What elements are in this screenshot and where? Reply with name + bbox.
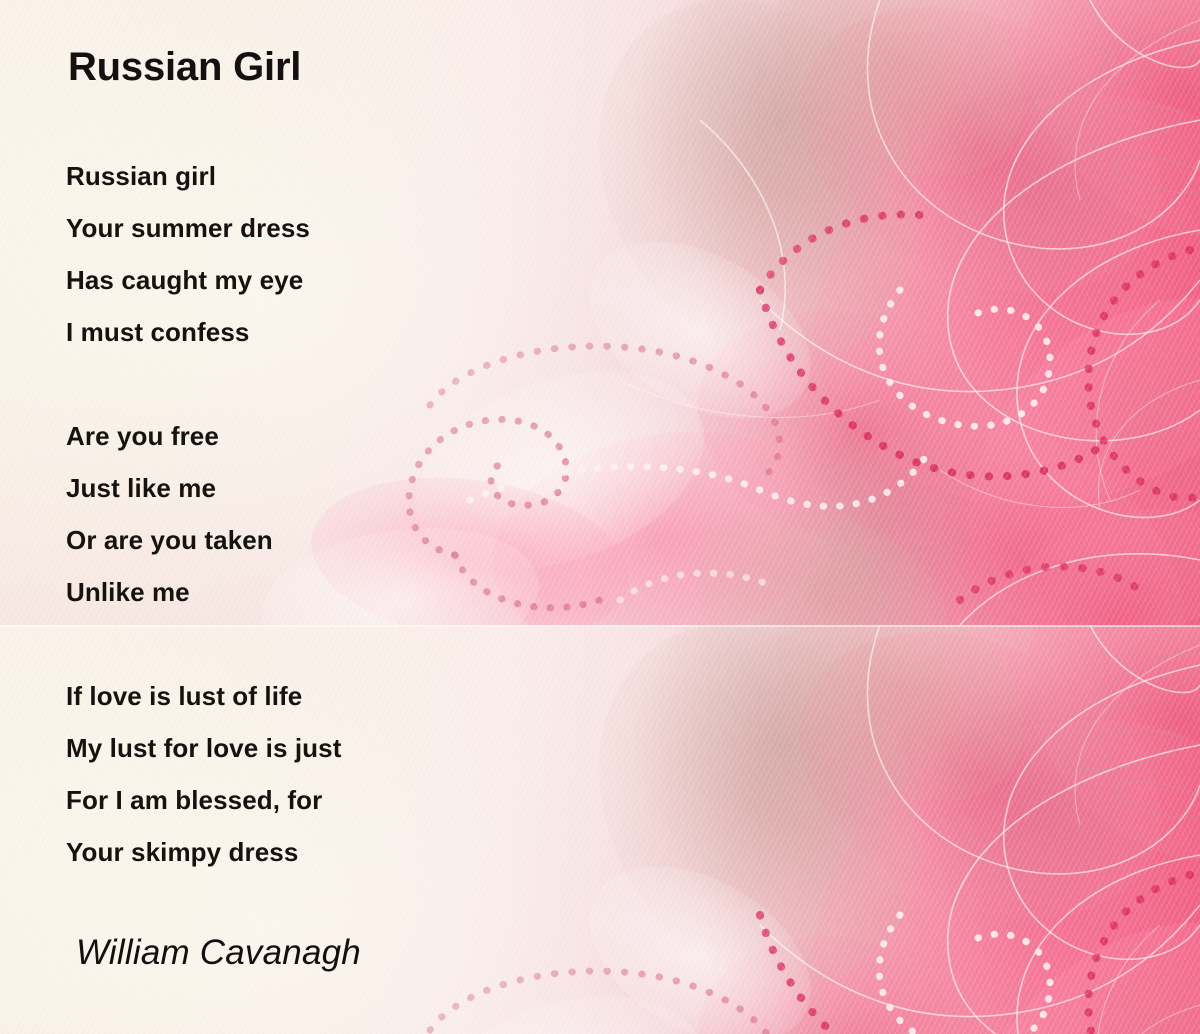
poem-line: Just like me	[66, 462, 341, 514]
poem-body: Russian girl Your summer dress Has caugh…	[66, 150, 341, 878]
poem-line: Are you free	[66, 410, 341, 462]
poem-author: William Cavanagh	[76, 934, 361, 973]
page-title: Russian Girl	[68, 47, 301, 87]
poem-image: Russian Girl Russian girl Your summer dr…	[0, 0, 1200, 1034]
poem-line: Your summer dress	[66, 202, 341, 254]
poem-line: Your skimpy dress	[66, 826, 341, 878]
poem-line: Or are you taken	[66, 514, 341, 566]
poem-stanza: Russian girl Your summer dress Has caugh…	[66, 150, 341, 358]
poem-stanza: Are you free Just like me Or are you tak…	[66, 410, 341, 618]
poem-line: For I am blessed, for	[66, 774, 341, 826]
poem-line: My lust for love is just	[66, 722, 341, 774]
poem-text-layer: Russian Girl Russian girl Your summer dr…	[0, 0, 1200, 1034]
poem-line: I must confess	[66, 306, 341, 358]
poem-line: Has caught my eye	[66, 254, 341, 306]
poem-line: Unlike me	[66, 566, 341, 618]
poem-line: If love is lust of life	[66, 670, 341, 722]
poem-line: Russian girl	[66, 150, 341, 202]
poem-stanza: If love is lust of life My lust for love…	[66, 670, 341, 878]
